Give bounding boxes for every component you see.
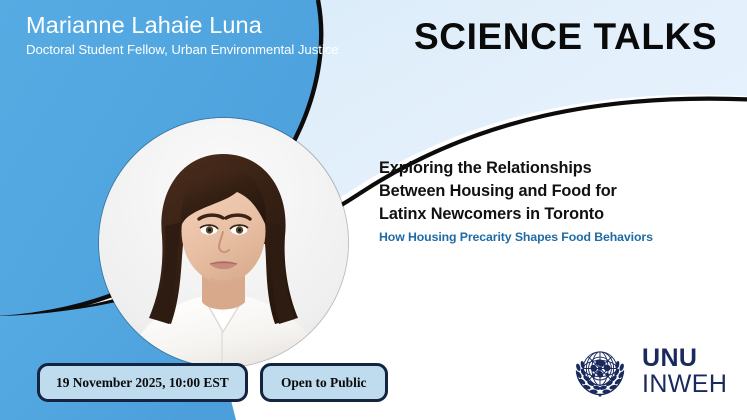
event-date-badge: 19 November 2025, 10:00 EST: [37, 363, 248, 402]
unu-inweh-logo: UNU INWEH: [569, 340, 727, 402]
un-emblem-icon: [569, 340, 631, 402]
event-access-badge: Open to Public: [260, 363, 388, 402]
talk-subtitle: How Housing Precarity Shapes Food Behavi…: [379, 230, 719, 244]
speaker-photo: [99, 118, 348, 367]
logo-wordmark: UNU INWEH: [642, 346, 727, 397]
badge-row: 19 November 2025, 10:00 EST Open to Publ…: [37, 363, 388, 402]
talk-title-line-2: Between Housing and Food for: [379, 180, 719, 203]
talk-title-line-3: Latinx Newcomers in Toronto: [379, 203, 719, 226]
talk-title-line-1: Exploring the Relationships: [379, 157, 719, 180]
speaker-role: Doctoral Student Fellow, Urban Environme…: [26, 42, 356, 57]
science-talks-poster: Marianne Lahaie Luna Doctoral Student Fe…: [0, 0, 747, 420]
talk-title: Exploring the Relationships Between Hous…: [379, 157, 719, 226]
speaker-name: Marianne Lahaie Luna: [26, 12, 356, 40]
speaker-block: Marianne Lahaie Luna Doctoral Student Fe…: [26, 12, 356, 57]
portrait-illustration: [99, 118, 348, 367]
logo-line-inweh: INWEH: [642, 372, 727, 397]
logo-line-unu: UNU: [642, 346, 727, 371]
series-title: SCIENCE TALKS: [414, 18, 717, 55]
talk-block: Exploring the Relationships Between Hous…: [379, 157, 719, 244]
